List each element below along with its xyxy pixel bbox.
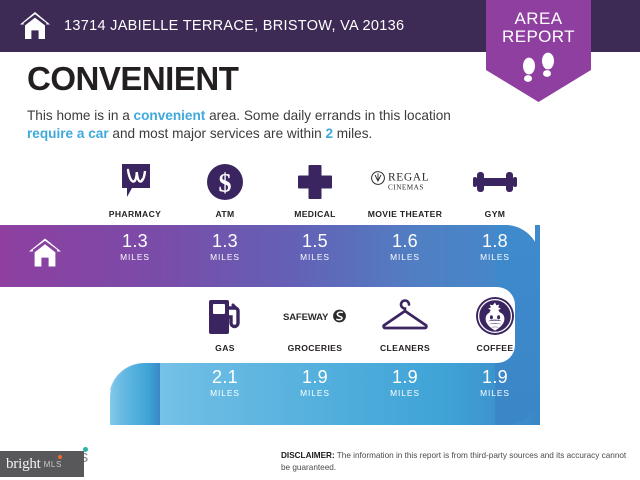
category-label: PHARMACY: [109, 209, 161, 219]
distance-unit: MILES: [180, 388, 270, 398]
category-gas[interactable]: GAS: [180, 296, 270, 353]
category-movie-theater[interactable]: REGAL CINEMAS MOVIE THEATER: [360, 162, 450, 219]
home-icon: [18, 9, 52, 43]
distance-cell: 1.9 MILES: [360, 368, 450, 398]
distance-value: 1.9: [450, 368, 540, 387]
brand-dot-icon: [58, 455, 62, 459]
page-title: CONVENIENT: [27, 62, 457, 95]
distance-value: 1.6: [360, 232, 450, 251]
category-label: MEDICAL: [294, 209, 336, 219]
category-coffee[interactable]: COFFEE: [450, 296, 540, 353]
distance-cell: 1.3 MILES: [90, 232, 180, 262]
category-label: ATM: [215, 209, 234, 219]
description-highlight: require a car: [27, 126, 109, 141]
hanger-icon: [381, 296, 429, 336]
starbucks-icon: [475, 296, 515, 336]
safeway-icon: SAFEWAY: [283, 296, 347, 336]
walgreens-w-icon: [117, 162, 153, 202]
distance-unit: MILES: [450, 252, 540, 262]
category-cleaners[interactable]: CLEANERS: [360, 296, 450, 353]
brightmls-logo: bright MLS: [0, 451, 84, 477]
brand-name: bright: [6, 456, 41, 473]
gas-pump-icon: [206, 296, 244, 336]
distance-unit: MILES: [360, 388, 450, 398]
distance-unit: MILES: [90, 252, 180, 262]
value-row-2: 2.1 MILES 1.9 MILES 1.9 MILES 1.9 MILES: [180, 368, 540, 398]
distance-unit: MILES: [270, 388, 360, 398]
distance-cell: 1.8 MILES: [450, 232, 540, 262]
medical-cross-icon: [296, 162, 334, 202]
category-label: GROCERIES: [288, 343, 343, 353]
distance-value: 1.3: [180, 232, 270, 251]
category-label: GYM: [485, 209, 506, 219]
icon-row-2: GAS SAFEWAY GROCERIES CLEANERS: [180, 296, 540, 353]
category-medical[interactable]: MEDICAL: [270, 162, 360, 219]
distance-unit: MILES: [180, 252, 270, 262]
category-label: COFFEE: [477, 343, 514, 353]
svg-text:REGAL: REGAL: [388, 172, 429, 184]
dollar-circle-icon: $: [206, 162, 244, 202]
disclaimer-label: DISCLAIMER:: [281, 451, 335, 460]
distance-value: 1.9: [270, 368, 360, 387]
disclaimer: DISCLAIMER: The information in this repo…: [281, 450, 629, 473]
distance-cell: 2.1 MILES: [180, 368, 270, 398]
home-icon: [27, 236, 63, 270]
brand-teal-dot-icon: [83, 447, 88, 452]
property-address: 13714 JABIELLE TERRACE, BRISTOW, VA 2013…: [64, 18, 404, 34]
description-highlight: 2: [325, 126, 333, 141]
regal-cinemas-icon: REGAL CINEMAS: [369, 162, 441, 202]
dumbbell-icon: [473, 162, 517, 202]
distance-value: 1.8: [450, 232, 540, 251]
category-label: CLEANERS: [380, 343, 430, 353]
distance-value: 1.9: [360, 368, 450, 387]
distance-unit: MILES: [270, 252, 360, 262]
distance-cell: 1.9 MILES: [450, 368, 540, 398]
value-row-1: 1.3 MILES 1.3 MILES 1.5 MILES 1.6 MILES …: [90, 232, 540, 262]
area-report-badge: AREA REPORT: [486, 0, 591, 102]
category-pharmacy[interactable]: PHARMACY: [90, 162, 180, 219]
description-text: This home is in a: [27, 108, 134, 123]
category-label: GAS: [215, 343, 235, 353]
category-gym[interactable]: GYM: [450, 162, 540, 219]
description-text: and most major services are within: [109, 126, 326, 141]
distance-value: 2.1: [180, 368, 270, 387]
distance-unit: MILES: [360, 252, 450, 262]
description-highlight: convenient: [134, 108, 206, 123]
distance-value: 1.3: [90, 232, 180, 251]
distance-value: 1.5: [270, 232, 360, 251]
page-description: This home is in a convenient area. Some …: [27, 107, 457, 143]
category-groceries[interactable]: SAFEWAY GROCERIES: [270, 296, 360, 353]
distance-cell: 1.9 MILES: [270, 368, 360, 398]
brand-suffix: MLS: [44, 460, 62, 469]
svg-text:SAFEWAY: SAFEWAY: [283, 312, 329, 323]
category-atm[interactable]: $ ATM: [180, 162, 270, 219]
distance-unit: MILES: [450, 388, 540, 398]
distance-cell: 1.6 MILES: [360, 232, 450, 262]
description-text: miles.: [333, 126, 372, 141]
svg-text:$: $: [219, 169, 232, 198]
icon-row-1: PHARMACY $ ATM MEDICAL REGAL CINEMAS: [90, 162, 540, 219]
distance-cell: 1.5 MILES: [270, 232, 360, 262]
content-head: CONVENIENT This home is in a convenient …: [27, 62, 457, 143]
category-label: MOVIE THEATER: [368, 209, 443, 219]
description-text: area. Some daily errands in this locatio…: [205, 108, 451, 123]
distance-cell: 1.3 MILES: [180, 232, 270, 262]
svg-text:CINEMAS: CINEMAS: [388, 184, 424, 192]
